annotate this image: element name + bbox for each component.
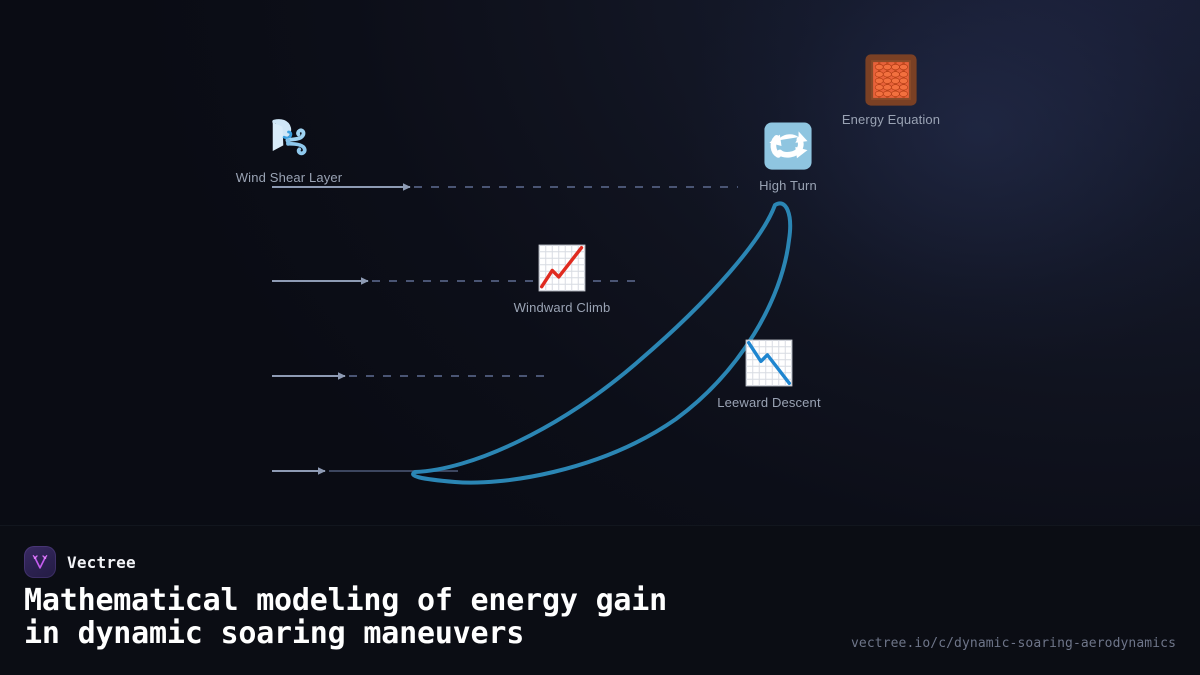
footer-bar: Vectree Mathematical modeling of energy …: [0, 525, 1200, 675]
chart-increasing-icon: [536, 242, 588, 294]
diagram-node-wind-shear-layer[interactable]: Wind Shear Layer: [194, 112, 384, 185]
repeat-arrows-icon: [762, 120, 814, 172]
brand-name: Vectree: [67, 553, 136, 572]
abacus-icon: [865, 54, 917, 106]
diagram-node-leeward-descent[interactable]: Leeward Descent: [674, 337, 864, 410]
slide-canvas: Wind Shear Layer High Turn: [0, 0, 1200, 675]
diagram-node-label: High Turn: [759, 178, 817, 193]
diagram-stage: Wind Shear Layer High Turn: [0, 0, 1200, 525]
brand-badge: [24, 546, 56, 578]
source-url: vectree.io/c/dynamic-soaring-aerodynamic…: [851, 636, 1176, 651]
diagram-node-label: Windward Climb: [514, 300, 611, 315]
diagram-node-label: Leeward Descent: [717, 395, 820, 410]
brand[interactable]: Vectree: [24, 546, 136, 578]
diagram-node-label: Wind Shear Layer: [236, 170, 342, 185]
vectree-logo-icon: [30, 552, 50, 572]
diagram-node-windward-climb[interactable]: Windward Climb: [467, 242, 657, 315]
diagram-node-label: Energy Equation: [842, 112, 940, 127]
page-title: Mathematical modeling of energy gain in …: [24, 584, 824, 650]
diagram-node-energy-equation[interactable]: Energy Equation: [796, 54, 986, 127]
wind-flow-lines: [272, 187, 738, 471]
chart-decreasing-icon: [743, 337, 795, 389]
diagram-node-high-turn[interactable]: High Turn: [693, 120, 883, 193]
wind-face-icon: [263, 112, 315, 164]
